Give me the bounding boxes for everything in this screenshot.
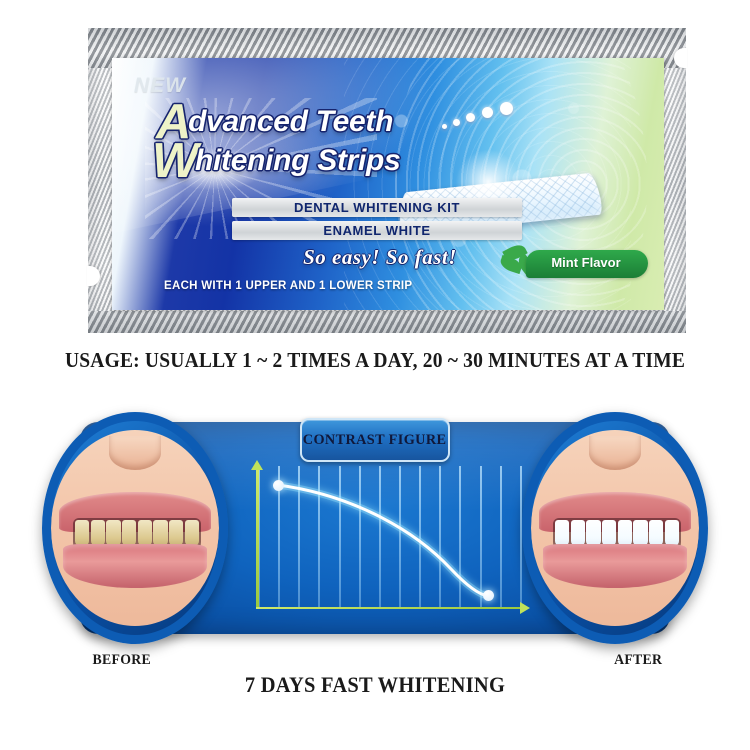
before-face-image <box>51 430 219 626</box>
contrast-figure-panel: CONTRAST FIGURE <box>42 412 708 644</box>
mint-flavor-badge: Mint Flavor <box>498 244 648 288</box>
chart-point-end <box>483 590 494 601</box>
lower-lip <box>543 544 687 588</box>
usage-instructions: USAGE: USUALLY 1 ~ 2 TIMES A DAY, 20 ~ 3… <box>26 348 724 373</box>
before-photo <box>42 412 228 644</box>
title-initial-w: W <box>152 146 198 177</box>
title-rest-1: dvanced Teeth <box>188 105 393 138</box>
after-photo <box>522 412 708 644</box>
package-label: NEW Advanced Teeth Whitening Strips DENT… <box>112 58 664 310</box>
subtitle-2-text: ENAMEL WHITE <box>323 223 430 238</box>
package-contents-note: EACH WITH 1 UPPER AND 1 LOWER STRIP <box>164 280 412 292</box>
nose-shape <box>589 436 641 470</box>
chart-point-start <box>273 480 284 491</box>
before-label: BEFORE <box>93 652 151 669</box>
title-rest-2: hitening Strips <box>195 144 401 177</box>
lower-lip <box>63 544 207 588</box>
product-ad-canvas: NEW Advanced Teeth Whitening Strips DENT… <box>0 0 750 750</box>
mint-flavor-label: Mint Flavor <box>534 255 638 270</box>
after-label: AFTER <box>614 652 662 669</box>
contrast-figure-badge: CONTRAST FIGURE <box>300 418 450 462</box>
subtitle-enamel-white: ENAMEL WHITE <box>232 221 522 240</box>
subtitle-1-text: DENTAL WHITENING KIT <box>294 200 460 215</box>
subtitle-dental-whitening-kit: DENTAL WHITENING KIT <box>232 198 522 217</box>
product-package: NEW Advanced Teeth Whitening Strips DENT… <box>88 28 686 333</box>
tear-notch-right-icon <box>674 48 687 68</box>
before-mouth <box>59 492 211 588</box>
package-tagline: So easy! So fast! <box>240 245 520 270</box>
nose-shape <box>109 436 161 470</box>
bottom-caption: 7 DAYS FAST WHITENING <box>26 672 724 698</box>
dot-arc-decoration <box>442 102 552 136</box>
after-mouth <box>539 492 691 588</box>
foil-bottom-seal <box>88 311 686 333</box>
contrast-figure-badge-label: CONTRAST FIGURE <box>303 432 447 449</box>
after-face-image <box>531 430 699 626</box>
whitening-progress-chart <box>236 464 526 626</box>
